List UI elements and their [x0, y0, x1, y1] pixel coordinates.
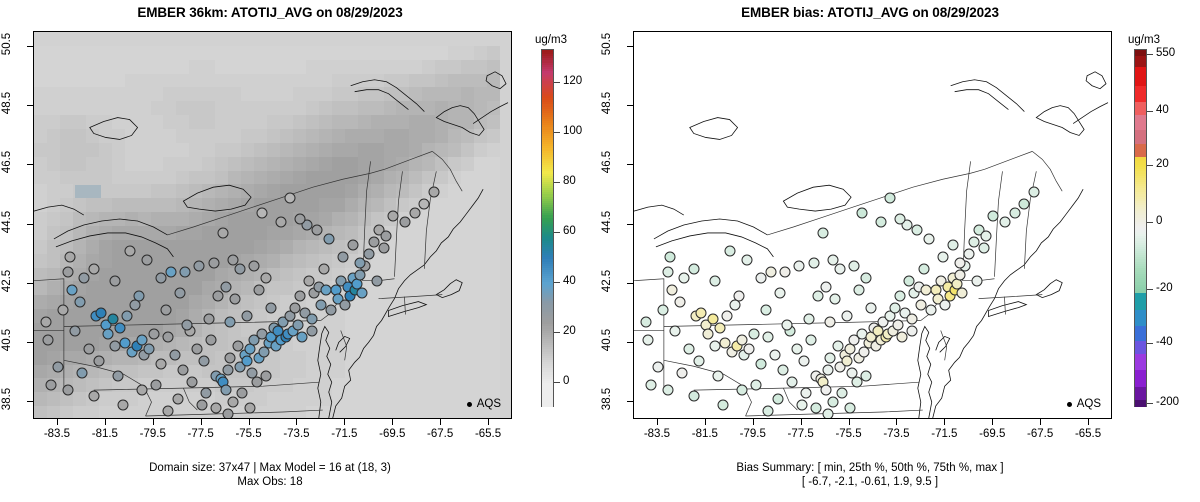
station-marker	[779, 266, 790, 277]
station-marker	[155, 358, 166, 369]
colorbar-tick-label: 40	[563, 275, 576, 287]
station-marker	[763, 406, 774, 417]
station-marker	[112, 370, 123, 381]
station-marker	[124, 246, 135, 257]
station-marker	[203, 314, 214, 325]
station-marker	[696, 308, 707, 319]
station-marker	[170, 349, 181, 360]
colorbar-tick	[554, 82, 560, 83]
y-tick	[627, 342, 633, 343]
station-marker	[41, 317, 52, 328]
station-marker	[225, 352, 236, 363]
colorbar-tick	[1147, 111, 1153, 112]
station-marker	[43, 335, 54, 346]
station-marker	[787, 376, 798, 387]
station-marker	[801, 388, 812, 399]
station-marker	[806, 335, 817, 346]
station-marker	[954, 258, 965, 269]
x-tick	[201, 419, 202, 425]
station-marker	[256, 207, 267, 218]
station-marker	[645, 379, 656, 390]
station-marker	[136, 385, 147, 396]
station-marker	[799, 355, 810, 366]
model-aqs-legend: AQS	[467, 398, 501, 410]
station-marker	[199, 355, 210, 366]
station-marker	[657, 305, 668, 316]
station-marker	[69, 326, 80, 337]
station-marker	[151, 379, 162, 390]
station-marker	[88, 391, 99, 402]
station-marker	[751, 379, 762, 390]
y-tick	[627, 401, 633, 402]
station-marker	[844, 403, 855, 414]
station-marker	[894, 213, 905, 224]
station-marker	[371, 275, 382, 286]
station-marker	[163, 332, 174, 343]
station-marker	[854, 284, 865, 295]
station-marker	[419, 198, 430, 209]
filled-circle-icon	[1067, 402, 1072, 407]
x-tick	[1088, 419, 1089, 425]
bias-colorbar-unit: ug/m3	[1128, 34, 1160, 46]
x-tick-label: -65.5	[458, 428, 518, 440]
colorbar-tick-label: 80	[563, 175, 576, 187]
station-marker	[364, 249, 375, 260]
x-tick	[753, 419, 754, 425]
x-tick	[849, 419, 850, 425]
station-marker	[744, 343, 755, 354]
y-tick-label: 48.5	[601, 80, 613, 126]
colorbar-tick	[1147, 403, 1153, 404]
y-tick-label: 38.5	[601, 376, 613, 422]
station-marker	[381, 231, 392, 242]
x-tick	[57, 419, 58, 425]
station-marker	[409, 207, 420, 218]
station-marker	[93, 355, 104, 366]
station-marker	[191, 343, 202, 354]
colorbar-tick	[554, 382, 560, 383]
x-tick	[896, 419, 897, 425]
station-marker	[667, 284, 678, 295]
station-marker	[866, 302, 877, 313]
colorbar-tick-label: 20	[1156, 158, 1169, 170]
station-marker	[338, 252, 349, 263]
station-marker	[724, 246, 735, 257]
station-marker	[294, 213, 305, 224]
station-marker	[230, 293, 241, 304]
colorbar-tick-label: 40	[1156, 104, 1169, 116]
model-caption-line2: Max Obs: 18	[0, 475, 540, 489]
station-marker	[261, 370, 272, 381]
model-colorbar	[541, 49, 554, 407]
station-marker	[782, 320, 793, 331]
station-marker	[894, 290, 905, 301]
colorbar-tick	[554, 232, 560, 233]
station-marker	[825, 317, 836, 328]
colorbar-tick-label: 60	[563, 225, 576, 237]
station-marker	[971, 275, 982, 286]
station-marker	[796, 400, 807, 411]
station-marker	[429, 186, 440, 197]
station-marker	[141, 255, 152, 266]
colorbar-tick	[554, 282, 560, 283]
bias-caption-line1: Bias Summary: [ min, 25th %, 50th %, 75t…	[600, 461, 1140, 475]
model-colorbar-unit: ug/m3	[535, 34, 567, 46]
colorbar-tick	[1147, 222, 1153, 223]
colorbar-tick-label: -40	[1156, 336, 1173, 348]
station-marker	[676, 367, 687, 378]
station-marker	[318, 263, 329, 274]
station-marker	[978, 243, 989, 254]
station-marker	[765, 266, 776, 277]
station-marker	[827, 255, 838, 266]
model-aqs-legend-label: AQS	[477, 398, 501, 410]
station-marker	[808, 258, 819, 269]
colorbar-tick	[554, 132, 560, 133]
station-marker	[242, 355, 253, 366]
station-marker	[825, 352, 836, 363]
station-marker	[1000, 216, 1011, 227]
station-marker	[227, 255, 238, 266]
station-marker	[755, 272, 766, 283]
station-marker	[1019, 198, 1030, 209]
station-marker	[62, 266, 73, 277]
station-marker	[194, 261, 205, 272]
colorbar-tick-label: 20	[563, 325, 576, 337]
station-marker	[96, 308, 107, 319]
station-marker	[679, 272, 690, 283]
station-marker	[861, 370, 872, 381]
station-marker	[378, 243, 389, 254]
station-marker	[911, 225, 922, 236]
station-marker	[354, 258, 365, 269]
station-marker	[664, 252, 675, 263]
station-marker	[266, 302, 277, 313]
x-tick	[440, 419, 441, 425]
y-tick-label: 48.5	[1, 80, 13, 126]
station-marker	[755, 358, 766, 369]
station-marker	[74, 296, 85, 307]
station-marker	[115, 323, 126, 334]
station-marker	[400, 216, 411, 227]
station-marker	[196, 400, 207, 411]
station-marker	[849, 261, 860, 272]
station-marker	[227, 397, 238, 408]
colorbar-tick-label: -20	[1156, 282, 1173, 294]
station-marker	[693, 355, 704, 366]
panel-bias: EMBER bias: ATOTIJ_AVG on 08/29/2023 AQS…	[600, 0, 1200, 502]
station-marker	[160, 305, 171, 316]
colorbar-tick	[1147, 165, 1153, 166]
station-marker	[76, 367, 87, 378]
y-tick-label: 40.5	[1, 317, 13, 363]
station-marker	[729, 299, 740, 310]
station-marker	[1009, 207, 1020, 218]
station-marker	[155, 272, 166, 283]
station-marker	[938, 252, 949, 263]
x-tick	[657, 419, 658, 425]
station-marker	[875, 216, 886, 227]
y-tick-label: 42.5	[601, 258, 613, 304]
station-marker	[182, 320, 193, 331]
station-marker	[964, 249, 975, 260]
station-marker	[64, 252, 75, 263]
station-marker	[208, 258, 219, 269]
x-tick	[344, 419, 345, 425]
x-tick	[249, 419, 250, 425]
station-marker	[165, 266, 176, 277]
station-marker	[688, 263, 699, 274]
station-marker	[110, 275, 121, 286]
colorbar-tick-label: 0	[563, 375, 569, 387]
station-marker	[294, 290, 305, 301]
y-tick-label: 44.5	[1, 199, 13, 245]
station-marker	[777, 364, 788, 375]
station-marker	[88, 263, 99, 274]
station-marker	[249, 261, 260, 272]
station-marker	[715, 323, 726, 334]
x-tick	[296, 419, 297, 425]
station-marker	[837, 388, 848, 399]
station-marker	[244, 403, 255, 414]
colorbar-tick-label: 550	[1156, 47, 1175, 59]
bias-map-outlines	[634, 32, 1111, 418]
colorbar-tick	[1147, 343, 1153, 344]
station-marker	[674, 296, 685, 307]
station-marker	[653, 361, 664, 372]
station-marker	[67, 284, 78, 295]
y-tick	[627, 46, 633, 47]
station-marker	[211, 403, 222, 414]
station-marker	[988, 210, 999, 221]
station-marker	[770, 349, 781, 360]
y-tick-label: 44.5	[601, 199, 613, 245]
y-tick	[627, 283, 633, 284]
station-marker	[129, 299, 140, 310]
station-marker	[923, 234, 934, 245]
station-marker	[53, 361, 64, 372]
station-marker	[957, 287, 968, 298]
station-marker	[722, 311, 733, 322]
station-marker	[791, 343, 802, 354]
y-tick-label: 40.5	[601, 317, 613, 363]
model-map-plot: AQS	[33, 31, 512, 419]
station-marker	[794, 261, 805, 272]
station-marker	[1029, 186, 1040, 197]
colorbar-tick-label: 100	[563, 125, 582, 137]
station-marker	[684, 343, 695, 354]
colorbar-tick	[1147, 289, 1153, 290]
station-marker	[918, 263, 929, 274]
x-tick	[1040, 419, 1041, 425]
station-marker	[703, 329, 714, 340]
y-tick	[27, 164, 33, 165]
station-marker	[906, 314, 917, 325]
station-marker	[741, 255, 752, 266]
station-marker	[643, 335, 654, 346]
station-marker	[177, 364, 188, 375]
colorbar-tick	[554, 332, 560, 333]
x-tick	[992, 419, 993, 425]
station-marker	[688, 391, 699, 402]
x-tick	[392, 419, 393, 425]
y-tick	[27, 283, 33, 284]
y-tick	[27, 105, 33, 106]
station-marker	[223, 364, 234, 375]
station-marker	[803, 314, 814, 325]
y-tick	[627, 224, 633, 225]
station-marker	[823, 409, 834, 419]
station-marker	[292, 320, 303, 331]
station-marker	[275, 216, 286, 227]
station-marker	[823, 364, 834, 375]
colorbar-tick-label: 0	[1156, 215, 1162, 227]
y-tick-label: 46.5	[601, 139, 613, 185]
bias-map-plot: AQS	[633, 31, 1112, 419]
station-marker	[926, 305, 937, 316]
x-tick	[105, 419, 106, 425]
model-caption-line1: Domain size: 37x47 | Max Model = 16 at (…	[0, 461, 540, 475]
station-marker	[772, 394, 783, 405]
station-marker	[103, 329, 114, 340]
station-marker	[717, 400, 728, 411]
station-marker	[842, 311, 853, 322]
station-marker	[172, 394, 183, 405]
y-tick	[627, 164, 633, 165]
station-marker	[79, 272, 90, 283]
station-marker	[201, 388, 212, 399]
figure-canvas: EMBER 36km: ATOTIJ_AVG on 08/29/2023 AQS…	[0, 0, 1200, 502]
station-marker	[175, 287, 186, 298]
y-tick-label: 50.5	[601, 21, 613, 67]
station-marker	[148, 329, 159, 340]
y-tick	[627, 105, 633, 106]
station-marker	[981, 231, 992, 242]
station-marker	[57, 305, 68, 316]
station-marker	[122, 311, 133, 322]
station-marker	[830, 293, 841, 304]
station-marker	[388, 210, 399, 221]
station-marker	[736, 385, 747, 396]
station-marker	[662, 266, 673, 277]
station-marker	[357, 287, 368, 298]
y-tick-label: 50.5	[1, 21, 13, 67]
station-marker	[225, 317, 236, 328]
station-marker	[813, 290, 824, 301]
station-marker	[62, 385, 73, 396]
x-tick	[801, 419, 802, 425]
panel-model-title: EMBER 36km: ATOTIJ_AVG on 08/29/2023	[0, 5, 540, 20]
y-tick	[27, 224, 33, 225]
station-marker	[748, 329, 759, 340]
colorbar-tick-label: 120	[563, 75, 582, 87]
station-marker	[218, 228, 229, 239]
bias-caption-line2: [ -6.7, -2.1, -0.61, 1.9, 9.5 ]	[600, 475, 1140, 489]
station-marker	[906, 326, 917, 337]
filled-circle-icon	[467, 402, 472, 407]
station-marker	[187, 376, 198, 387]
y-tick-label: 38.5	[1, 376, 13, 422]
station-marker	[311, 225, 322, 236]
station-marker	[775, 287, 786, 298]
colorbar-tick	[1147, 54, 1153, 55]
station-marker	[163, 406, 174, 417]
station-marker	[242, 311, 253, 322]
station-marker	[45, 379, 56, 390]
station-marker	[827, 397, 838, 408]
station-marker	[861, 272, 872, 283]
bias-aqs-legend-label: AQS	[1077, 398, 1101, 410]
station-marker	[712, 370, 723, 381]
station-marker	[144, 343, 155, 354]
station-marker	[811, 403, 822, 414]
station-marker	[254, 284, 265, 295]
station-marker	[347, 240, 358, 251]
station-marker	[710, 275, 721, 286]
bias-aqs-legend: AQS	[1067, 398, 1101, 410]
y-tick	[27, 401, 33, 402]
station-marker	[835, 263, 846, 274]
station-marker	[856, 207, 867, 218]
x-tick-label: -65.5	[1058, 428, 1118, 440]
x-tick	[944, 419, 945, 425]
station-marker	[669, 326, 680, 337]
station-marker	[323, 234, 334, 245]
station-marker	[306, 314, 317, 325]
station-marker	[261, 272, 272, 283]
x-tick	[153, 419, 154, 425]
station-marker	[213, 290, 224, 301]
station-marker	[206, 335, 217, 346]
station-marker	[306, 326, 317, 337]
x-tick	[488, 419, 489, 425]
bias-colorbar	[1134, 49, 1147, 407]
station-marker	[842, 355, 853, 366]
station-marker	[235, 263, 246, 274]
y-tick	[27, 342, 33, 343]
station-marker	[885, 192, 896, 203]
station-marker	[760, 305, 771, 316]
station-marker	[326, 305, 337, 316]
x-tick	[705, 419, 706, 425]
station-marker	[818, 228, 829, 239]
station-marker	[237, 388, 248, 399]
panel-bias-title: EMBER bias: ATOTIJ_AVG on 08/29/2023	[600, 5, 1140, 20]
station-marker	[220, 385, 231, 396]
y-tick	[27, 46, 33, 47]
station-marker	[641, 317, 652, 328]
station-marker	[763, 332, 774, 343]
station-marker	[223, 409, 234, 419]
station-marker	[662, 385, 673, 396]
y-tick-label: 46.5	[1, 139, 13, 185]
colorbar-tick-label: -200	[1156, 396, 1179, 408]
colorbar-tick	[554, 182, 560, 183]
station-marker	[285, 192, 296, 203]
station-marker	[179, 266, 190, 277]
y-tick-label: 42.5	[1, 258, 13, 304]
station-marker	[820, 385, 831, 396]
model-map-outlines	[34, 32, 511, 418]
panel-model: EMBER 36km: ATOTIJ_AVG on 08/29/2023 AQS…	[0, 0, 600, 502]
station-marker	[892, 320, 903, 331]
station-marker	[117, 400, 128, 411]
station-marker	[84, 343, 95, 354]
station-marker	[947, 240, 958, 251]
